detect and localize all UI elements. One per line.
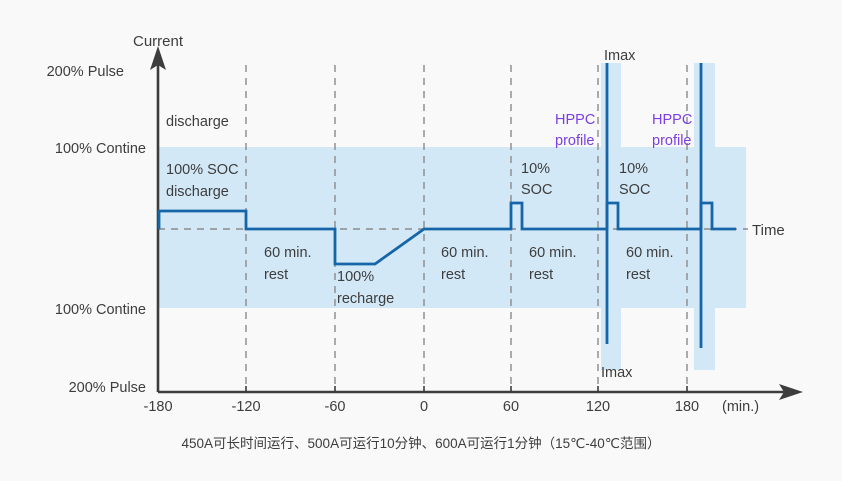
annotation-soc-discharge-line2: discharge xyxy=(166,184,229,200)
annotation-soc10-b-line1: 10% xyxy=(619,161,648,177)
x-axis-unit: (min.) xyxy=(722,399,759,415)
annotation-rest-1-line2: rest xyxy=(264,267,288,283)
y-label-top-contine: 100% Contine xyxy=(55,141,146,157)
annotation-hppc-a-line1: HPPC xyxy=(555,112,595,128)
y-label-top-pulse: 200% Pulse xyxy=(47,64,124,80)
current-profile-chart: Current Time (min.) 200% Pulse 100% Cont… xyxy=(0,0,842,481)
annotation-recharge-line1: 100% xyxy=(337,269,374,285)
imax-top-label: Imax xyxy=(604,48,636,64)
x-tick-label-180: 180 xyxy=(675,399,699,415)
x-tick-label-0: 0 xyxy=(420,399,428,415)
annotation-soc10-a-line2: SOC xyxy=(521,182,552,198)
x-tick-label-120: 120 xyxy=(586,399,610,415)
annotation-recharge-line2: recharge xyxy=(337,291,394,307)
annotation-rest-1-line1: 60 min. xyxy=(264,245,312,261)
annotation-rest-3-line2: rest xyxy=(529,267,553,283)
annotation-rest-4-line2: rest xyxy=(626,267,650,283)
annotation-rest-2-line2: rest xyxy=(441,267,465,283)
annotation-soc10-a-line1: 10% xyxy=(521,161,550,177)
annotation-soc10-b-line2: SOC xyxy=(619,182,650,198)
annotation-rest-2-line1: 60 min. xyxy=(441,245,489,261)
diagram-root: Current Time (min.) 200% Pulse 100% Cont… xyxy=(0,0,842,481)
x-tick-label-60: 60 xyxy=(503,399,519,415)
x-tick-label--60: -60 xyxy=(325,399,346,415)
annotation-rest-4-line1: 60 min. xyxy=(626,245,674,261)
annotation-soc-discharge-line1: 100% SOC xyxy=(166,162,239,178)
annotation-rest-3-line1: 60 min. xyxy=(529,245,577,261)
annotation-hppc-b-line2: profile xyxy=(652,133,692,149)
annotation-hppc-a-line2: profile xyxy=(555,133,595,149)
figure-caption: 450A可长时间运行、500A可运行10分钟、600A可运行1分钟（15℃-40… xyxy=(0,432,842,452)
y-axis-title: Current xyxy=(133,33,184,50)
x-axis-title: Time xyxy=(752,222,785,239)
imax-bottom-label: Imax xyxy=(601,365,633,381)
y-label-bottom-pulse: 200% Pulse xyxy=(69,380,146,396)
x-tick-label--120: -120 xyxy=(231,399,260,415)
annotation-discharge: discharge xyxy=(166,114,229,130)
x-tick-label--180: -180 xyxy=(143,399,172,415)
y-label-bottom-contine: 100% Contine xyxy=(55,302,146,318)
annotation-hppc-b-line1: HPPC xyxy=(652,112,692,128)
